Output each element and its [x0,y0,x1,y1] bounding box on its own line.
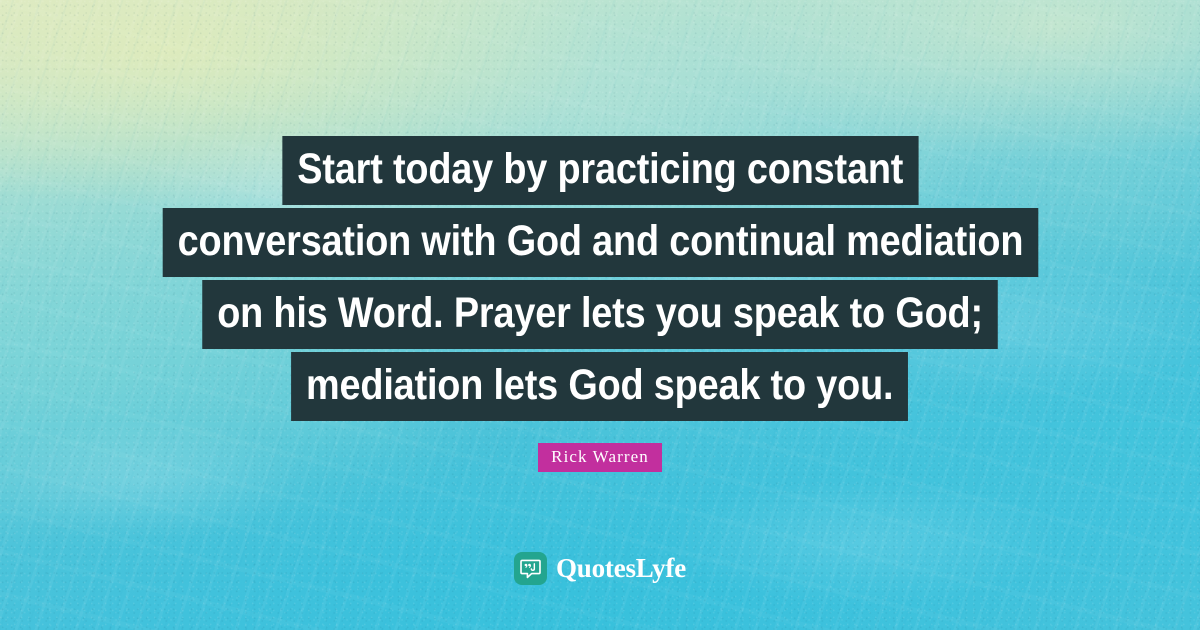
quote-text-block: Start today by practicing constant conve… [0,136,1200,472]
quote-line-3: on his Word. Prayer lets you speak to Go… [202,280,998,349]
author-badge: Rick Warren [538,443,662,472]
brand-name: QuotesLyfe [556,555,686,582]
quote-smiley-icon [514,552,547,585]
card-content: Start today by practicing constant conve… [0,0,1200,630]
quote-card: Start today by practicing constant conve… [0,0,1200,630]
footer: QuotesLyfe [0,552,1200,585]
brand-logo[interactable]: QuotesLyfe [514,552,686,585]
quote-line-2: conversation with God and continual medi… [162,208,1038,277]
quote-line-1: Start today by practicing constant [282,136,918,205]
quote-line-4: mediation lets God speak to you. [291,352,908,421]
